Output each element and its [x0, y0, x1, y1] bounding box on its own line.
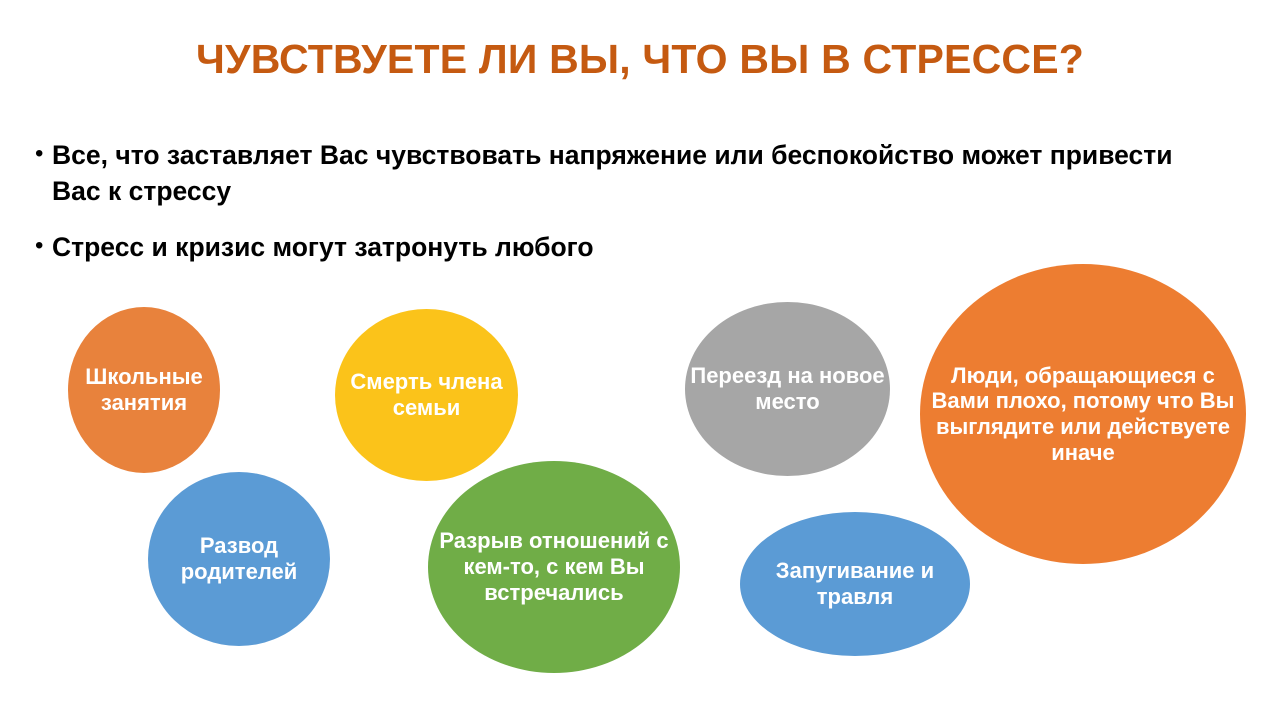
bubble-family-death: Смерть члена семьи: [335, 309, 518, 481]
bullet-list: • Все, что заставляет Вас чувствовать на…: [30, 138, 1230, 285]
bubble-mistreatment: Люди, обращающиеся с Вами плохо, потому …: [920, 264, 1246, 564]
bubble-label: Запугивание и травля: [744, 558, 966, 609]
bullet-marker-icon: •: [30, 138, 52, 170]
bubble-parents-divorce: Развод родителей: [148, 472, 330, 646]
bubble-label: Смерть члена семьи: [339, 369, 514, 420]
bubble-label: Развод родителей: [152, 533, 326, 584]
bubble-label: Переезд на новое место: [689, 363, 886, 414]
bullet-item-1: • Все, что заставляет Вас чувствовать на…: [30, 138, 1230, 210]
bullet-text-2: Стресс и кризис могут затронуть любого: [52, 230, 1182, 266]
page-title: ЧУВСТВУЕТЕ ЛИ ВЫ, ЧТО ВЫ В СТРЕССЕ?: [0, 36, 1280, 83]
bubble-label: Люди, обращающиеся с Вами плохо, потому …: [924, 363, 1242, 466]
bubble-label: Школьные занятия: [72, 364, 216, 415]
bullet-item-2: • Стресс и кризис могут затронуть любого: [30, 230, 1230, 266]
bubble-moving-house: Переезд на новое место: [685, 302, 890, 476]
bubble-relationship-breakup: Разрыв отношений с кем-то, с кем Вы встр…: [428, 461, 680, 673]
slide-canvas: ЧУВСТВУЕТЕ ЛИ ВЫ, ЧТО ВЫ В СТРЕССЕ? • Вс…: [0, 0, 1280, 720]
bullet-text-1: Все, что заставляет Вас чувствовать напр…: [52, 138, 1182, 210]
bubble-bullying: Запугивание и травля: [740, 512, 970, 656]
bullet-marker-icon: •: [30, 230, 52, 262]
bubble-label: Разрыв отношений с кем-то, с кем Вы встр…: [432, 528, 676, 605]
bubble-school-classes: Школьные занятия: [68, 307, 220, 473]
